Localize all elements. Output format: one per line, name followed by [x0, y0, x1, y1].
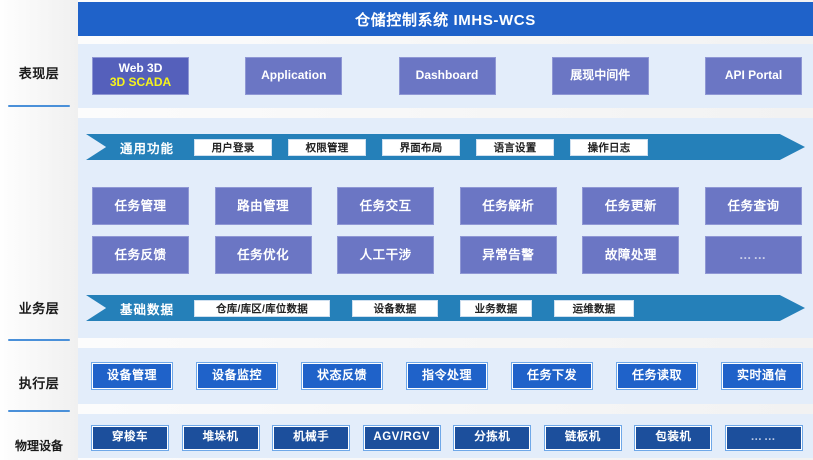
- device-box-slat-conveyor[interactable]: 链板机: [545, 426, 621, 450]
- presentation-row: Web 3D 3D SCADA Application Dashboard 展现…: [92, 57, 802, 95]
- task-box-fault[interactable]: 故障处理: [582, 236, 679, 274]
- exec-box-device-management[interactable]: 设备管理: [92, 363, 172, 389]
- chip-ops-data[interactable]: 运维数据: [554, 300, 634, 317]
- exec-box-realtime-comm[interactable]: 实时通信: [722, 363, 802, 389]
- common-functions-banner: 通用功能 用户登录 权限管理 界面布局 语言设置 操作日志: [86, 134, 805, 160]
- task-box-routing[interactable]: 路由管理: [215, 187, 312, 225]
- presentation-box-application[interactable]: Application: [245, 57, 342, 95]
- common-functions-chips: 用户登录 权限管理 界面布局 语言设置 操作日志: [194, 139, 648, 156]
- task-box-parsing[interactable]: 任务解析: [460, 187, 557, 225]
- device-box-packer[interactable]: 包装机: [635, 426, 711, 450]
- chip-user-login[interactable]: 用户登录: [194, 139, 272, 156]
- exec-box-command-process[interactable]: 指令处理: [407, 363, 487, 389]
- layer-rail: 表现层 业务层 执行层 物理设备: [0, 0, 78, 460]
- system-title-bar: 仓储控制系统 IMHS-WCS: [78, 2, 813, 36]
- physical-row: 穿梭车 堆垛机 机械手 AGV/RGV 分拣机 链板机 包装机 ……: [92, 426, 802, 450]
- presentation-box-middleware[interactable]: 展现中间件: [552, 57, 649, 95]
- rail-divider-1: [8, 105, 70, 107]
- exec-box-task-dispatch[interactable]: 任务下发: [512, 363, 592, 389]
- basic-data-title: 基础数据: [120, 299, 186, 318]
- rail-divider-2: [8, 339, 70, 341]
- device-box-stacker[interactable]: 堆垛机: [183, 426, 259, 450]
- device-box-sorter[interactable]: 分拣机: [454, 426, 530, 450]
- presentation-box-web3d[interactable]: Web 3D 3D SCADA: [92, 57, 189, 95]
- device-box-shuttle[interactable]: 穿梭车: [92, 426, 168, 450]
- presentation-box-line1: Web 3D: [119, 62, 163, 76]
- page-title: 仓储控制系统 IMHS-WCS: [355, 9, 536, 30]
- rail-label-presentation: 表现层: [0, 63, 78, 82]
- exec-box-status-feedback[interactable]: 状态反馈: [302, 363, 382, 389]
- task-box-manual[interactable]: 人工干涉: [337, 236, 434, 274]
- presentation-box-line1: Dashboard: [416, 69, 479, 83]
- presentation-box-line1: API Portal: [725, 69, 782, 83]
- chip-warehouse-data[interactable]: 仓库/库区/库位数据: [194, 300, 330, 317]
- basic-data-banner: 基础数据 仓库/库区/库位数据 设备数据 业务数据 运维数据: [86, 295, 805, 321]
- presentation-box-line2: 3D SCADA: [110, 76, 171, 90]
- execution-row: 设备管理 设备监控 状态反馈 指令处理 任务下发 任务读取 实时通信: [92, 363, 802, 389]
- exec-box-device-monitoring[interactable]: 设备监控: [197, 363, 277, 389]
- device-box-robot-arm[interactable]: 机械手: [273, 426, 349, 450]
- rail-label-business: 业务层: [0, 298, 78, 317]
- presentation-box-dashboard[interactable]: Dashboard: [399, 57, 496, 95]
- diagram-content: 仓储控制系统 IMHS-WCS Web 3D 3D SCADA Applicat…: [78, 0, 813, 460]
- common-functions-title: 通用功能: [120, 138, 186, 157]
- task-grid-row-2: 任务反馈 任务优化 人工干涉 异常告警 故障处理 ……: [92, 236, 802, 274]
- task-box-more[interactable]: ……: [705, 236, 802, 274]
- device-box-more[interactable]: ……: [726, 426, 802, 450]
- chip-device-data[interactable]: 设备数据: [352, 300, 438, 317]
- chip-operation-log[interactable]: 操作日志: [570, 139, 648, 156]
- task-grid-row-1: 任务管理 路由管理 任务交互 任务解析 任务更新 任务查询: [92, 187, 802, 225]
- rail-divider-3: [8, 410, 70, 412]
- exec-box-task-read[interactable]: 任务读取: [617, 363, 697, 389]
- chip-language[interactable]: 语言设置: [476, 139, 554, 156]
- task-box-update[interactable]: 任务更新: [582, 187, 679, 225]
- task-box-feedback[interactable]: 任务反馈: [92, 236, 189, 274]
- chip-permission[interactable]: 权限管理: [288, 139, 366, 156]
- architecture-diagram: 表现层 业务层 执行层 物理设备 仓储控制系统 IMHS-WCS Web 3D …: [0, 0, 813, 460]
- task-box-interaction[interactable]: 任务交互: [337, 187, 434, 225]
- basic-data-chips: 仓库/库区/库位数据 设备数据 业务数据 运维数据: [194, 300, 634, 317]
- chip-business-data[interactable]: 业务数据: [460, 300, 532, 317]
- device-box-agv-rgv[interactable]: AGV/RGV: [364, 426, 440, 450]
- presentation-box-line1: Application: [261, 69, 326, 83]
- rail-label-physical: 物理设备: [0, 437, 78, 454]
- chip-ui-layout[interactable]: 界面布局: [382, 139, 460, 156]
- task-box-query[interactable]: 任务查询: [705, 187, 802, 225]
- presentation-box-api-portal[interactable]: API Portal: [705, 57, 802, 95]
- task-box-management[interactable]: 任务管理: [92, 187, 189, 225]
- task-box-optimization[interactable]: 任务优化: [215, 236, 312, 274]
- presentation-box-line1: 展现中间件: [570, 69, 630, 83]
- task-box-alarm[interactable]: 异常告警: [460, 236, 557, 274]
- rail-label-execution: 执行层: [0, 373, 78, 392]
